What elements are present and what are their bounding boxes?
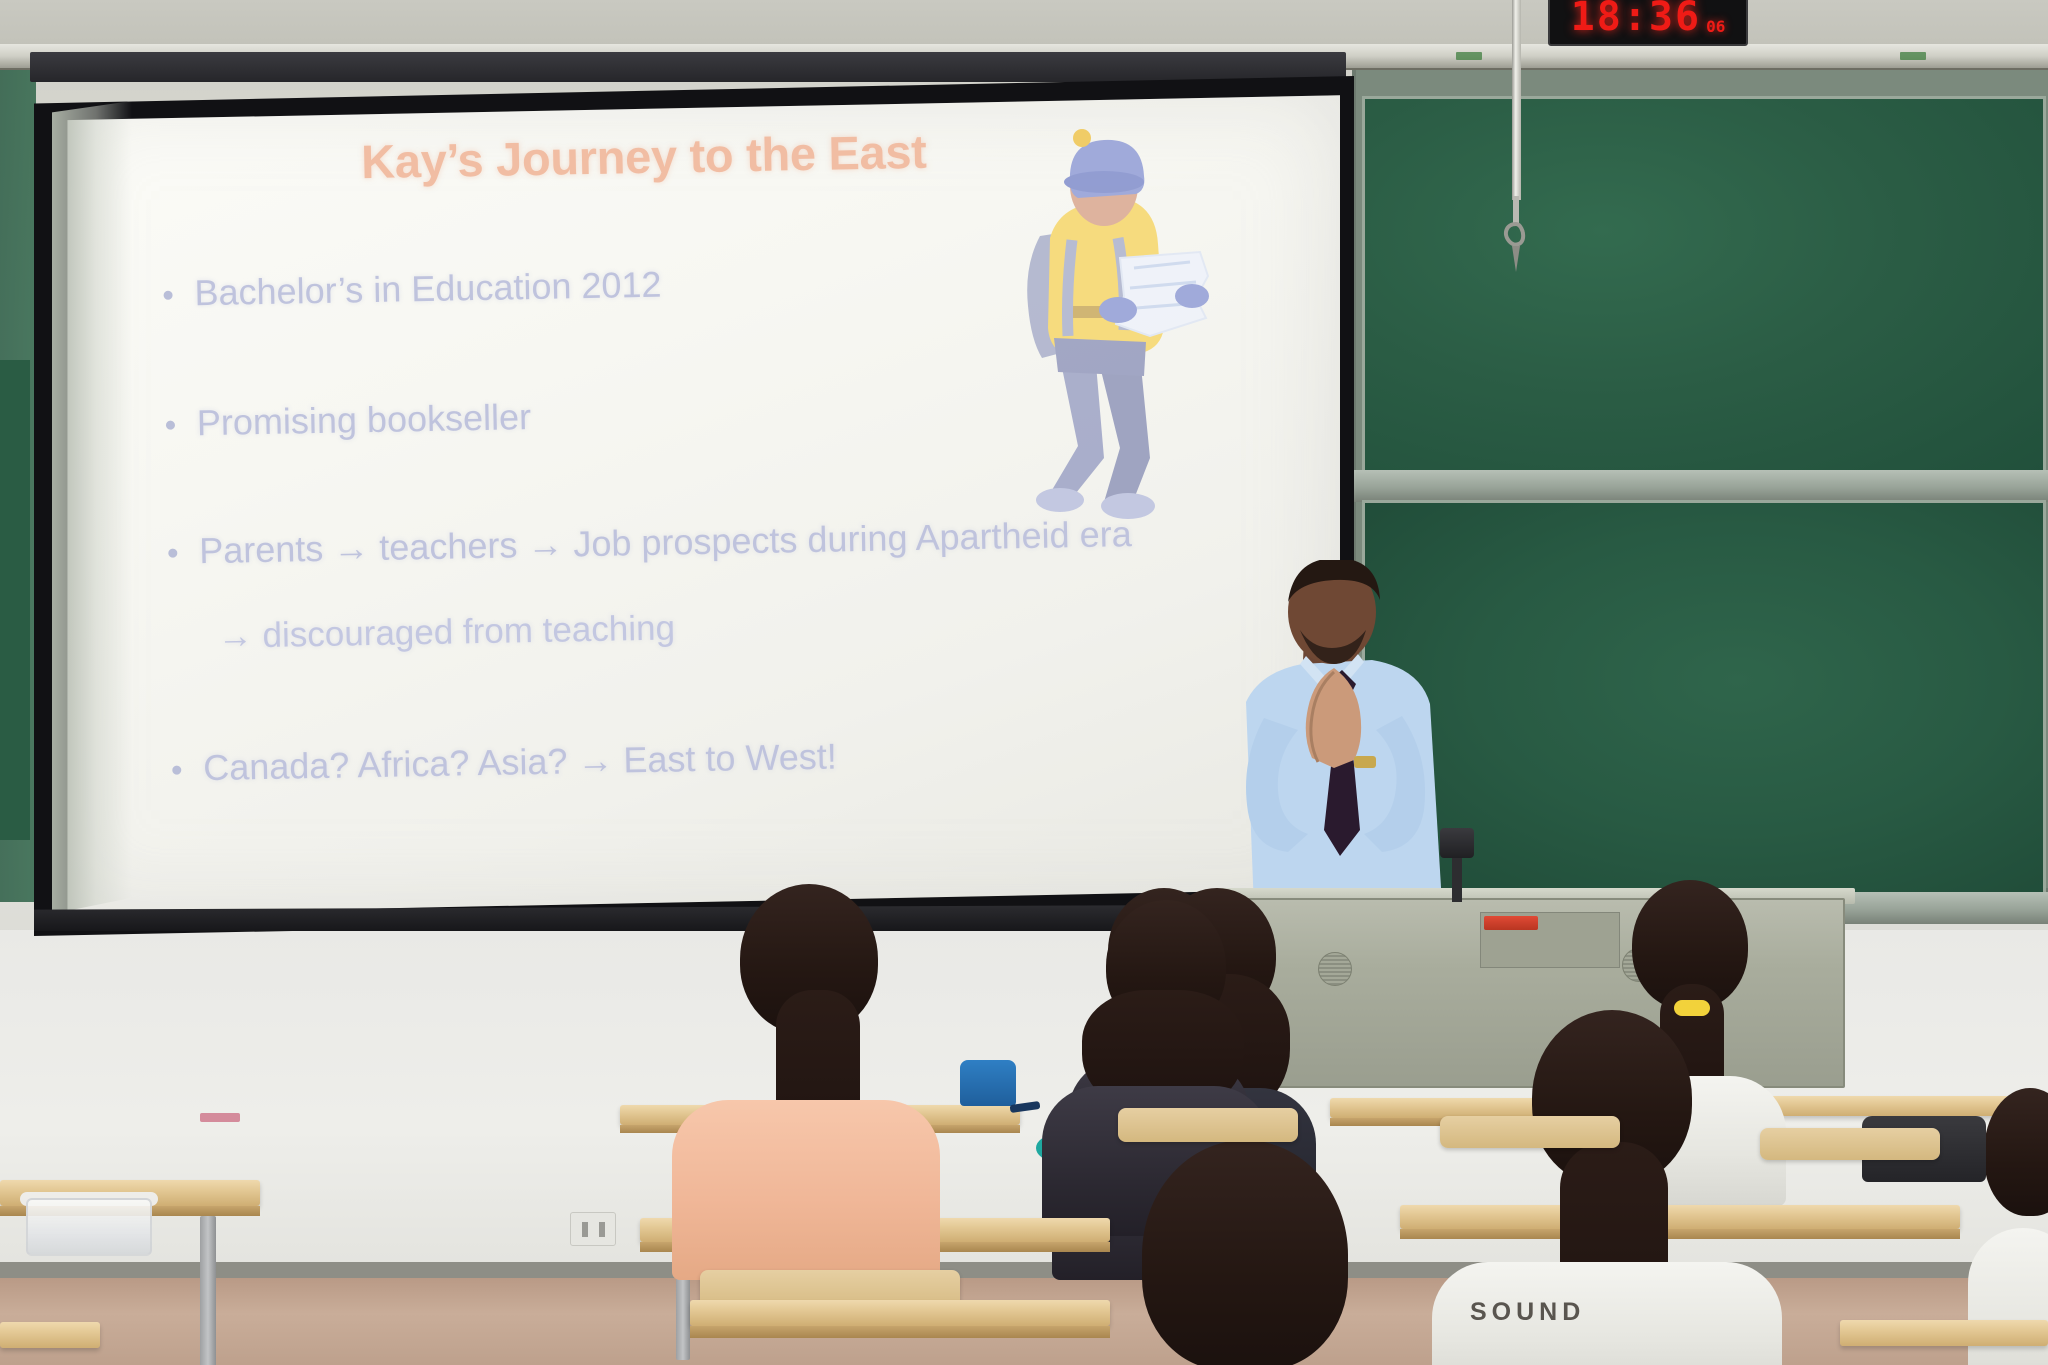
- bullet-text: Canada? Africa? Asia? → East to West!: [203, 738, 837, 787]
- bullet-text: Promising bookseller: [197, 398, 532, 442]
- walking-traveler-with-map-icon: [1000, 128, 1215, 538]
- student-head: [1984, 1088, 2048, 1216]
- student-foreground-dark: [1086, 1140, 1406, 1365]
- ceiling-hook-icon: [1500, 196, 1530, 274]
- chair-far-right: [1760, 1128, 1940, 1160]
- student-front-peach: [672, 884, 942, 1204]
- digital-wall-clock: 18:36 06: [1548, 0, 1748, 46]
- presenter-figure: [1208, 560, 1478, 905]
- projector-hanging-rod: [1512, 0, 1521, 200]
- rail-tag-3: [1900, 52, 1926, 60]
- lunch-container: [26, 1198, 152, 1256]
- student-torso: [672, 1100, 940, 1280]
- projector-screen-case: [30, 52, 1346, 82]
- chair-mid: [1118, 1108, 1298, 1142]
- bullet-dot-icon: [163, 291, 172, 300]
- bullet-dot-icon: [168, 548, 177, 557]
- bullet-dot-icon: [166, 420, 175, 429]
- student-right-white: [1984, 1088, 2048, 1288]
- student-sound-shirt: SOUND: [1440, 1010, 1780, 1365]
- desk-front-left-lower: [0, 1322, 100, 1348]
- wall-outlet[interactable]: [570, 1212, 616, 1246]
- bullet-dot-icon: [172, 766, 181, 775]
- student-head: [1142, 1140, 1348, 1365]
- chalk-ledge-upper: [1352, 470, 2048, 502]
- classroom-scene: 18:36 06 Kay’s Journey to the East Bache…: [0, 0, 2048, 1365]
- screen-left-shadow: [52, 96, 132, 914]
- clock-seconds: 06: [1706, 17, 1725, 36]
- shirt-text: SOUND: [1470, 1298, 1585, 1327]
- clock-time: 18:36: [1571, 0, 1701, 40]
- microphone-icon[interactable]: [1440, 828, 1474, 858]
- console-speaker-left: [1318, 952, 1352, 986]
- desk-front-center: [690, 1300, 1110, 1326]
- desk-front-right: [1840, 1320, 2048, 1346]
- rail-tag-2: [1456, 52, 1482, 60]
- bullet-text: Bachelor’s in Education 2012: [194, 266, 662, 312]
- desk-front-center-edge: [690, 1326, 1110, 1338]
- chalkboard-panel-top: [1362, 96, 2046, 478]
- chalkboard-left-edge-lower: [0, 360, 30, 840]
- desk-leg: [200, 1216, 216, 1365]
- pink-tray: [200, 1113, 240, 1122]
- console-indicator-light: [1484, 916, 1538, 930]
- slide-title: Kay’s Journey to the East: [361, 124, 927, 189]
- chair-right: [1440, 1116, 1620, 1148]
- blue-backpack: [960, 1060, 1016, 1106]
